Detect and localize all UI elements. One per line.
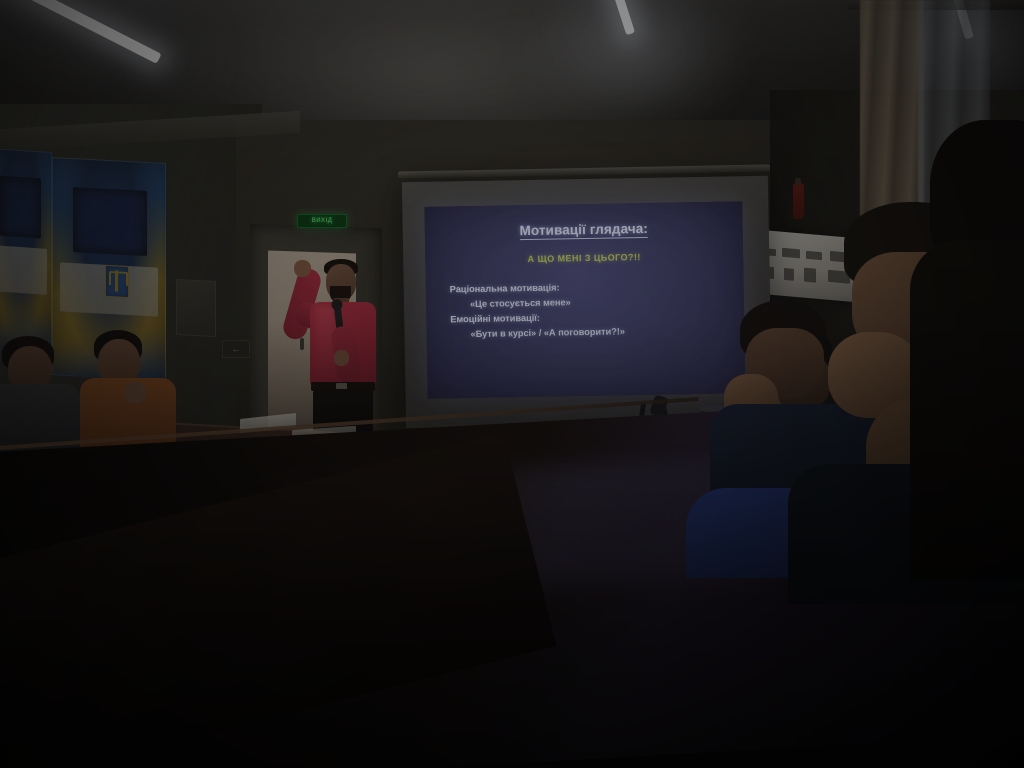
photo-scene: ВИХІД ← Мотивації глядача: А ЩО МЕНІ З Ц… xyxy=(0,0,1024,768)
exit-sign: ВИХІД xyxy=(297,214,347,228)
presentation-slide: Мотивації глядача: А ЩО МЕНІ З ЦЬОГО?!! … xyxy=(424,201,745,399)
ukrainian-trident-icon xyxy=(105,264,129,297)
banner-logo-icon xyxy=(806,251,822,260)
presenter-raised-fist xyxy=(294,260,311,277)
attendee-body xyxy=(910,240,1024,580)
wall-panel-box xyxy=(176,279,216,337)
presenter-hand xyxy=(334,350,349,366)
direction-arrow-sign: ← xyxy=(222,340,250,358)
attendee-foreground-far xyxy=(930,120,1024,520)
banner-logo-icon xyxy=(804,268,816,283)
ukrainian-poster-left xyxy=(0,148,52,354)
fire-extinguisher-icon xyxy=(793,183,804,219)
attendee-gray-hoodie xyxy=(0,336,78,456)
poster-banner-panel xyxy=(0,176,41,239)
poster-banner-panel xyxy=(73,187,147,256)
attendee-hair xyxy=(930,120,1024,260)
poster-scroll xyxy=(0,245,47,295)
exit-sign-label: ВИХІД xyxy=(312,218,333,224)
arrow-left-icon: ← xyxy=(232,345,241,354)
presenter xyxy=(286,246,396,444)
attendee-hand xyxy=(124,382,146,404)
slide-subtitle: А ЩО МЕНІ З ЦЬОГО?!! xyxy=(439,251,729,266)
slide-body: Раціональна мотивація: «Це стосується ме… xyxy=(440,278,731,343)
banner-logo-icon xyxy=(784,268,794,281)
slide-title: Мотивації глядача: xyxy=(519,221,648,240)
banner-logo-icon xyxy=(782,248,800,259)
